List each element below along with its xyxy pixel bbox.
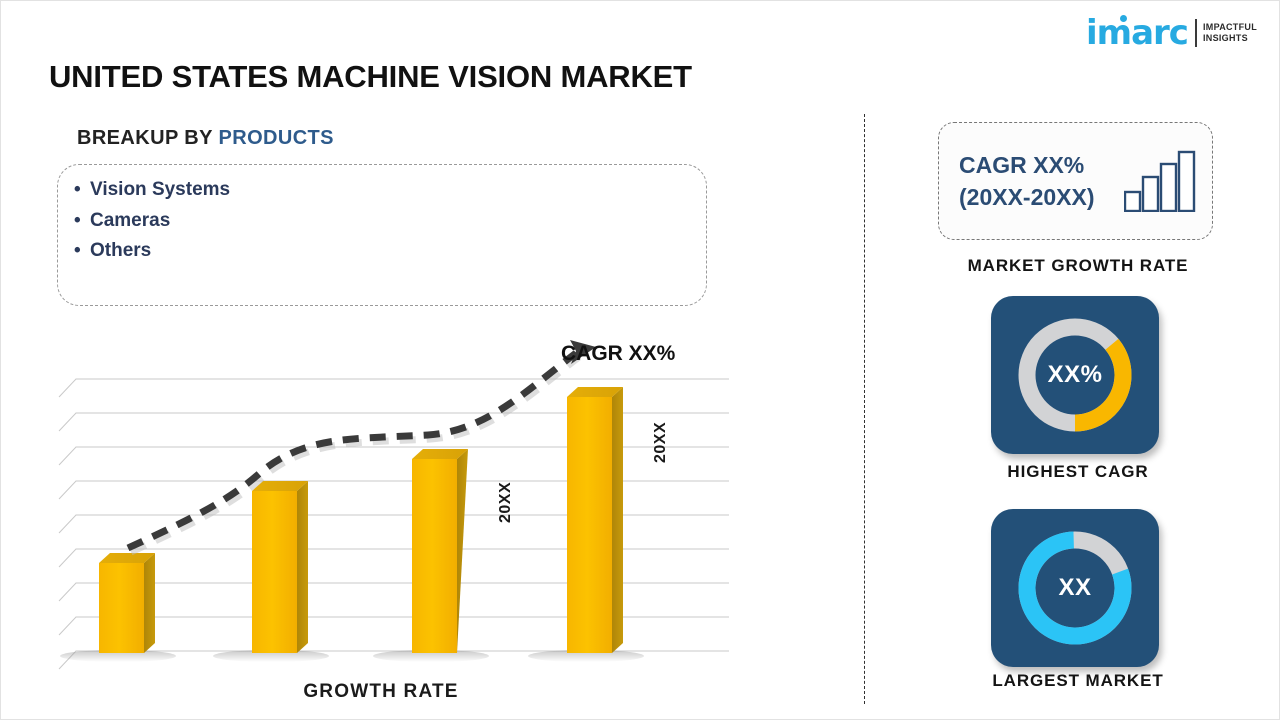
bar-chart-icon [1124,150,1196,217]
products-breakup-box: •Vision Systems •Cameras •Others [57,164,707,306]
market-growth-rate-label: MARKET GROWTH RATE [908,256,1248,276]
highest-cagr-value: XX% [991,296,1159,454]
breakup-heading-prefix: BREAKUP BY [77,127,218,149]
list-item-label: Cameras [90,210,170,231]
chart-gridlines [59,379,729,669]
market-growth-rate-card: CAGR XX% (20XX-20XX) [938,122,1213,240]
chart-bar-shadows [60,650,644,662]
highest-cagr-card: XX% [991,296,1159,454]
list-item-label: Vision Systems [90,179,230,200]
bullet-icon: • [74,206,90,237]
chart-cagr-label: CAGR XX% [561,342,675,366]
chart-bar [567,387,623,653]
logo-wordmark: imarc [1086,16,1195,50]
list-item-label: Others [90,240,151,261]
largest-market-card: XX [991,509,1159,667]
list-item: •Cameras [74,206,230,237]
list-item: •Vision Systems [74,175,230,206]
logo-divider [1195,19,1197,47]
page-title: UNITED STATES MACHINE VISION MARKET [49,59,692,95]
bullet-icon: • [74,236,90,267]
largest-market-label: LARGEST MARKET [908,671,1248,691]
vertical-divider [864,114,865,704]
growth-rate-bar-chart: 20XX 20XX [56,331,756,706]
breakup-heading-accent: PRODUCTS [218,127,333,149]
chart-trend-line [128,340,596,552]
largest-market-value: XX [991,509,1159,667]
breakup-heading: BREAKUP BY PRODUCTS [77,127,334,150]
bar-year-label: 20XX [652,422,670,463]
chart-x-axis-label: GROWTH RATE [1,681,761,703]
growth-rate-line1: CAGR XX% [959,149,1095,181]
logo-tagline-line1: IMPACTFUL [1203,22,1257,33]
logo-tagline: IMPACTFUL INSIGHTS [1203,22,1257,44]
chart-bar [412,449,468,653]
bullet-icon: • [74,175,90,206]
growth-rate-line2: (20XX-20XX) [959,181,1095,213]
logo-tagline-line2: INSIGHTS [1203,33,1257,44]
bar-year-label: 20XX [497,482,515,523]
chart-bar [99,553,155,653]
list-item: •Others [74,236,230,267]
chart-bar [252,481,308,653]
chart-svg [56,331,756,706]
highest-cagr-label: HIGHEST CAGR [908,462,1248,482]
growth-rate-text: CAGR XX% (20XX-20XX) [959,149,1095,213]
imarc-logo: imarc IMPACTFUL INSIGHTS [1086,13,1257,53]
products-list: •Vision Systems •Cameras •Others [74,175,230,267]
infographic-page: imarc IMPACTFUL INSIGHTS UNITED STATES M… [0,0,1280,720]
logo-dot-icon [1120,15,1127,22]
